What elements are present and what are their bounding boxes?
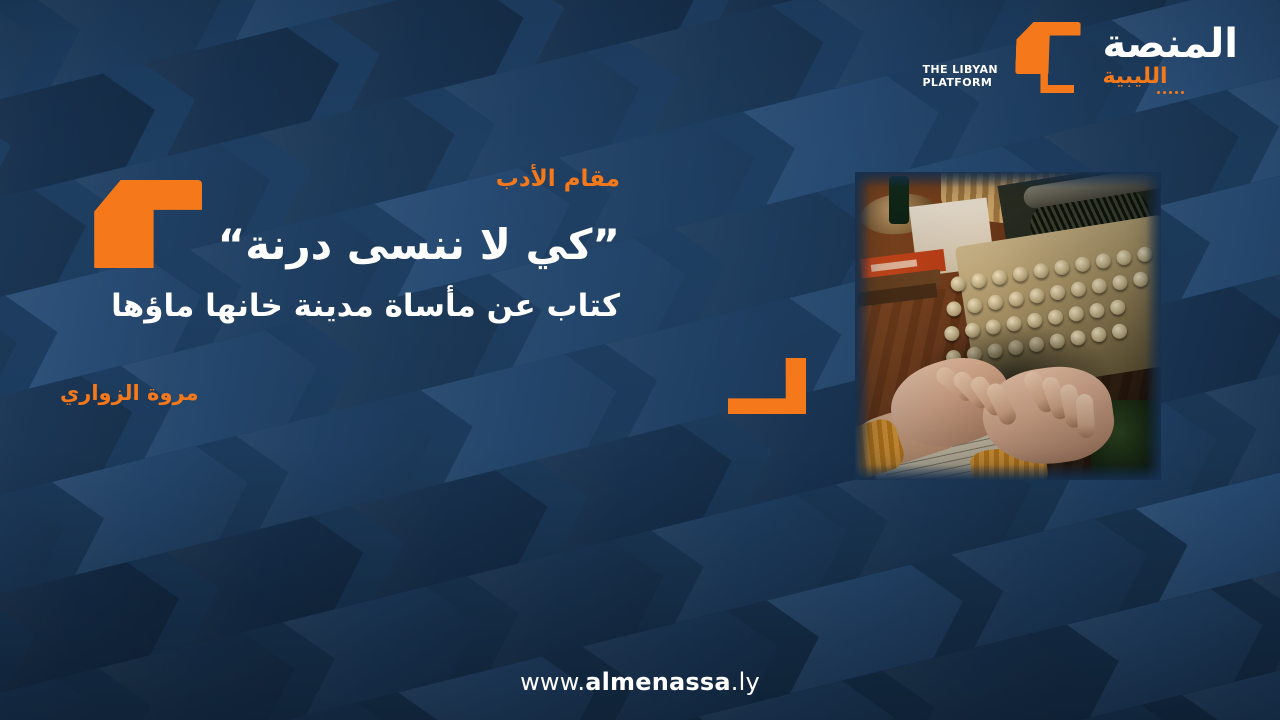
logo-bracket-icon bbox=[1014, 22, 1092, 96]
footer: www.almenassa.ly bbox=[0, 668, 1280, 696]
logo-wordmark: المنصة الليبية THE LIBYAN PLATFORM bbox=[1102, 24, 1238, 94]
url-suffix: .ly bbox=[731, 668, 760, 696]
brand-logo[interactable]: المنصة الليبية THE LIBYAN PLATFORM bbox=[1014, 22, 1238, 96]
url-prefix: www. bbox=[520, 668, 585, 696]
photo-typewriter-scene bbox=[855, 172, 1161, 480]
author-byline: مروة الزواري bbox=[60, 383, 620, 404]
logo-arabic-sub: الليبية bbox=[1102, 66, 1167, 88]
text-block: مقام الأدب ”كي لا ننسى درنة“ كتاب عن مأس… bbox=[60, 168, 620, 404]
logo-english-text: THE LIBYAN PLATFORM bbox=[922, 64, 998, 90]
logo-english-line2: PLATFORM bbox=[922, 76, 992, 89]
social-card: المنصة الليبية THE LIBYAN PLATFORM مقام … bbox=[0, 0, 1280, 720]
subtitle: كتاب عن مأساة مدينة خانها ماؤها bbox=[60, 286, 620, 326]
logo-arabic-main: المنصة bbox=[1102, 24, 1238, 64]
logo-dots-decoration bbox=[1157, 91, 1184, 94]
logo-bracket-large-icon bbox=[1016, 22, 1082, 74]
article-photo bbox=[855, 172, 1161, 480]
page-title: ”كي لا ننسى درنة“ bbox=[60, 219, 620, 270]
logo-bracket-small-icon bbox=[1040, 74, 1074, 93]
url-name: almenassa bbox=[585, 668, 731, 696]
category-kicker: مقام الأدب bbox=[60, 168, 620, 191]
logo-english-line1: THE LIBYAN bbox=[922, 63, 998, 76]
photo-lamp-stem bbox=[889, 176, 909, 224]
website-url[interactable]: www.almenassa.ly bbox=[520, 668, 760, 696]
